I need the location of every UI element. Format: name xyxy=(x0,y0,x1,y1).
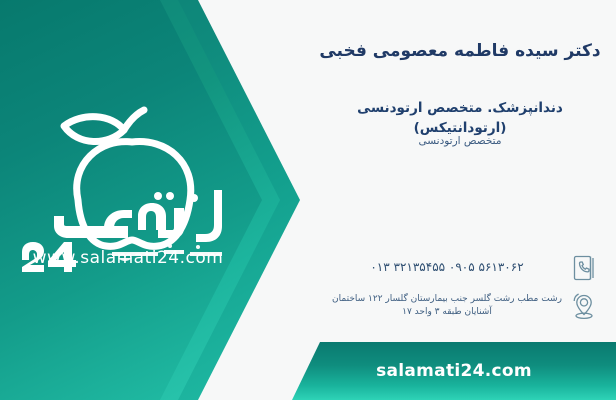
address-row[interactable]: رشت مطب رشت گلسر جنب بیمارستان گلسار ۱۲۲… xyxy=(322,288,600,324)
address-line-1: رشت مطب رشت گلسر جنب بیمارستان گلسار ۱۲۲… xyxy=(332,294,562,304)
footer-website: salamati24.com xyxy=(376,361,532,381)
doctor-specialty: دندانپزشک. متخصص ارتودنسی (ارتودانتیکس) xyxy=(318,98,602,139)
footer-bar[interactable]: salamati24.com xyxy=(292,342,616,400)
phone-book-icon xyxy=(568,250,600,286)
location-pin-icon xyxy=(568,288,600,324)
logo-website-url: www.salamati24.com xyxy=(8,248,248,268)
phone-row[interactable]: ۵۶۱۳۰۶۲ ۰۹۰۵ ۳۲۱۳۵۴۵۵ ۰۱۳ xyxy=(322,250,600,286)
doctor-specialty-sub: متخصص ارتودنسی xyxy=(318,135,602,147)
phone-number: ۵۶۱۳۰۶۲ ۰۹۰۵ ۳۲۱۳۵۴۵۵ ۰۱۳ xyxy=(322,259,568,276)
business-card: www.salamati24.com دکتر سیده فاطمه معصوم… xyxy=(0,0,616,400)
info-column: دکتر سیده فاطمه معصومی فخبی دندانپزشک. م… xyxy=(300,0,616,400)
address-text: رشت مطب رشت گلسر جنب بیمارستان گلسار ۱۲۲… xyxy=(322,293,568,320)
address-line-2: آشنایان طبقه ۳ واحد ۱۷ xyxy=(326,306,568,320)
doctor-name: دکتر سیده فاطمه معصومی فخبی xyxy=(318,40,602,64)
